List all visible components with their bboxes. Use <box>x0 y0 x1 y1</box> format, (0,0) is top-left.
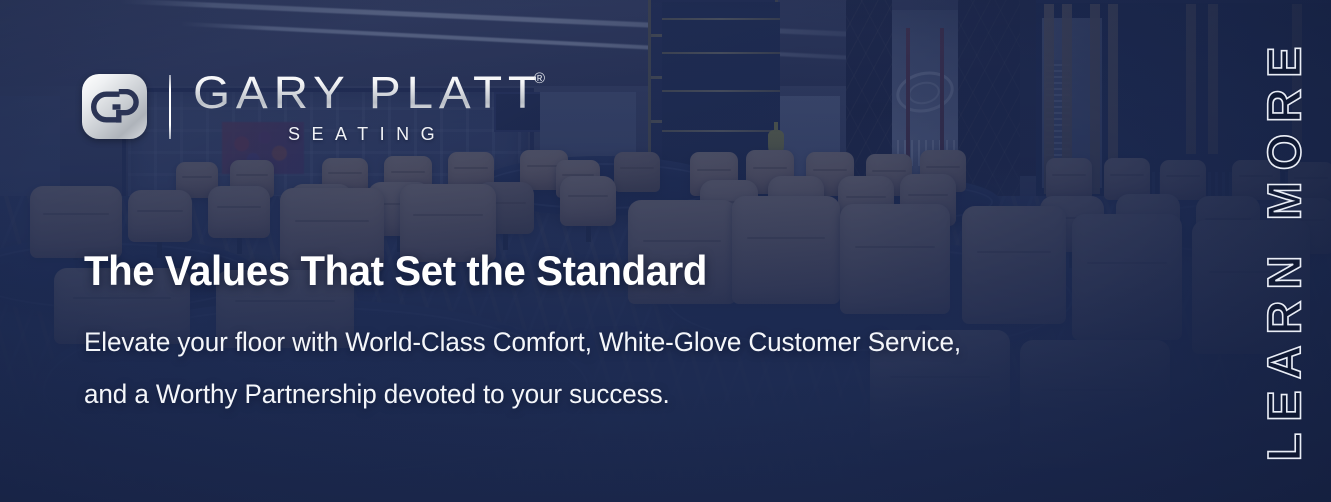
brand-wordmark: GARY PLATT ® SEATING <box>193 68 523 145</box>
hero-content: GARY PLATT ® SEATING The Values That Set… <box>0 0 1331 502</box>
page-title: The Values That Set the Standard <box>84 248 1077 293</box>
brand-name: GARY PLATT <box>193 70 543 115</box>
hero-banner: GARY PLATT ® SEATING The Values That Set… <box>0 0 1331 502</box>
gp-monogram-icon[interactable] <box>82 74 147 139</box>
learn-more-label: LEARN MORE <box>1257 35 1312 467</box>
brand-tagline: SEATING <box>193 124 523 145</box>
logo-divider <box>169 75 171 139</box>
learn-more-button[interactable]: LEARN MORE <box>1241 0 1327 502</box>
subcopy-line-1: Elevate your floor with World-Class Comf… <box>84 317 1088 369</box>
brand-logo-lockup[interactable]: GARY PLATT ® SEATING <box>82 68 523 145</box>
hero-subcopy: Elevate your floor with World-Class Comf… <box>84 317 1088 421</box>
subcopy-line-2: and a Worthy Partnership devoted to your… <box>84 369 1088 421</box>
hero-copy-block: The Values That Set the Standard Elevate… <box>84 248 1124 421</box>
registered-trademark-icon: ® <box>534 70 545 87</box>
